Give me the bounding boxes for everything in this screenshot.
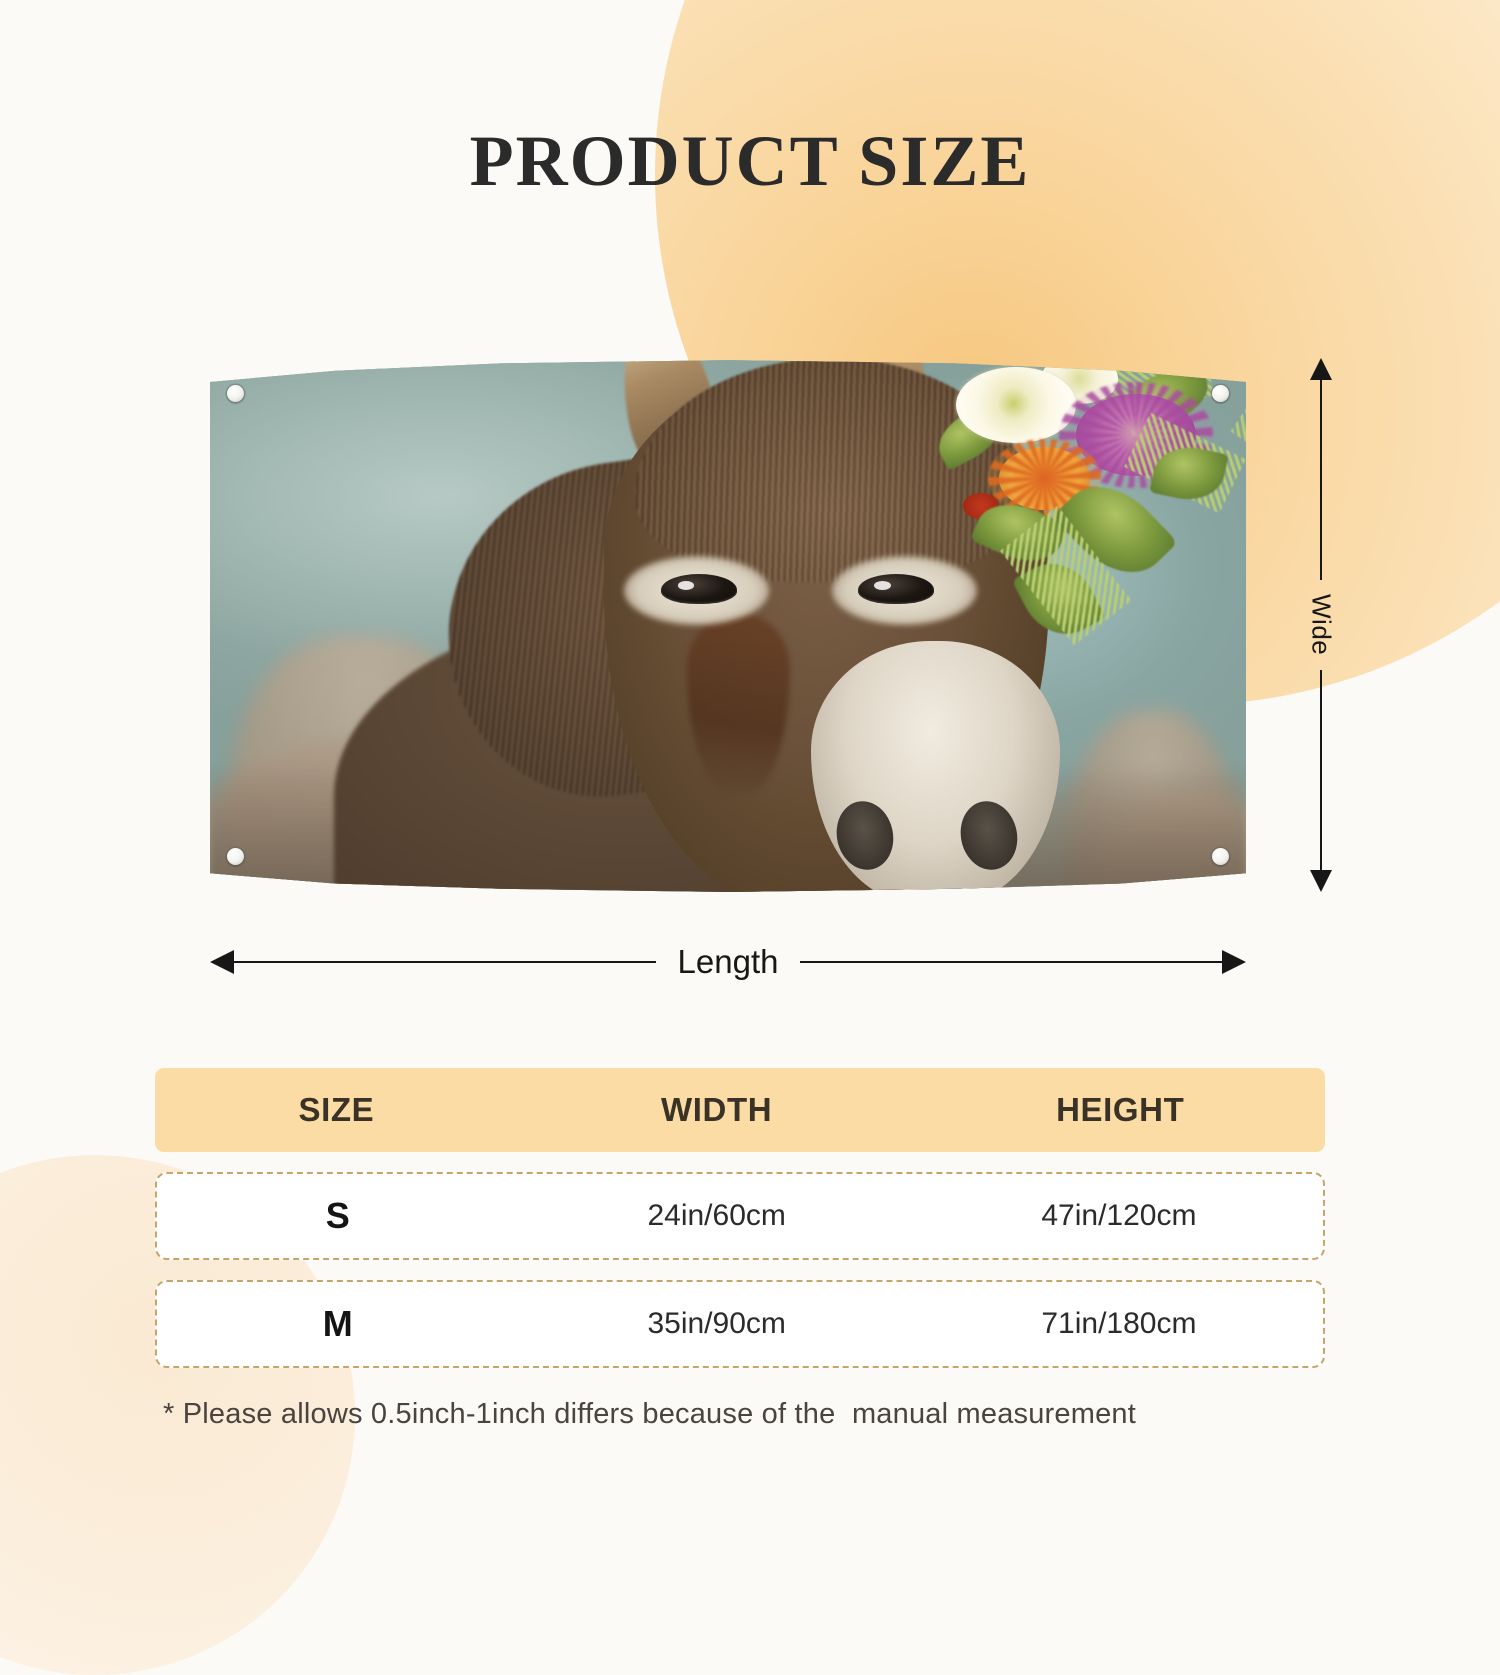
column-header-height: HEIGHT [915, 1091, 1325, 1129]
table-row: M 35in/90cm 71in/180cm [155, 1280, 1325, 1368]
arrow-line-left [234, 961, 656, 963]
donkey-eye-right [858, 574, 935, 604]
page-title: PRODUCT SIZE [0, 120, 1500, 203]
size-table: SIZE WIDTH HEIGHT S 24in/60cm 47in/120cm… [155, 1068, 1325, 1368]
cell-width: 35in/90cm [518, 1307, 914, 1341]
arrow-line-lower [1320, 670, 1322, 870]
table-row: S 24in/60cm 47in/120cm [155, 1172, 1325, 1260]
arrow-head-down-icon [1310, 870, 1332, 892]
banner-grommet-top-right [1212, 385, 1229, 402]
banner-grommet-top-left [227, 385, 244, 402]
cell-width: 24in/60cm [518, 1199, 914, 1233]
length-dimension-label: Length [656, 943, 801, 981]
column-header-size: SIZE [155, 1091, 518, 1129]
donkey-eye-left [661, 574, 738, 604]
artwork-donkey [210, 358, 1246, 892]
product-banner-preview [210, 358, 1246, 892]
arrow-head-up-icon [1310, 358, 1332, 380]
donkey-flower-crown [935, 358, 1246, 678]
cell-size: S [157, 1195, 518, 1237]
cell-height: 47in/120cm [915, 1199, 1323, 1233]
column-header-width: WIDTH [518, 1091, 916, 1129]
cell-height: 71in/180cm [915, 1307, 1323, 1341]
length-dimension-arrow: Length [210, 935, 1246, 989]
banner-grommet-bottom-right [1212, 848, 1229, 865]
banner-grommet-bottom-left [227, 848, 244, 865]
size-table-header-row: SIZE WIDTH HEIGHT [155, 1068, 1325, 1152]
arrow-line-upper [1320, 380, 1322, 580]
cell-size: M [157, 1303, 518, 1345]
arrow-line-right [800, 961, 1222, 963]
arrow-head-right-icon [1222, 950, 1246, 974]
wide-dimension-arrow: Wide [1298, 358, 1344, 892]
wide-dimension-label: Wide [1306, 580, 1337, 669]
flower-white-ranunculus [956, 367, 1076, 443]
banner-artwork [210, 358, 1246, 892]
arrow-head-left-icon [210, 950, 234, 974]
measurement-disclaimer: * Please allows 0.5inch-1inch differs be… [163, 1398, 1136, 1431]
